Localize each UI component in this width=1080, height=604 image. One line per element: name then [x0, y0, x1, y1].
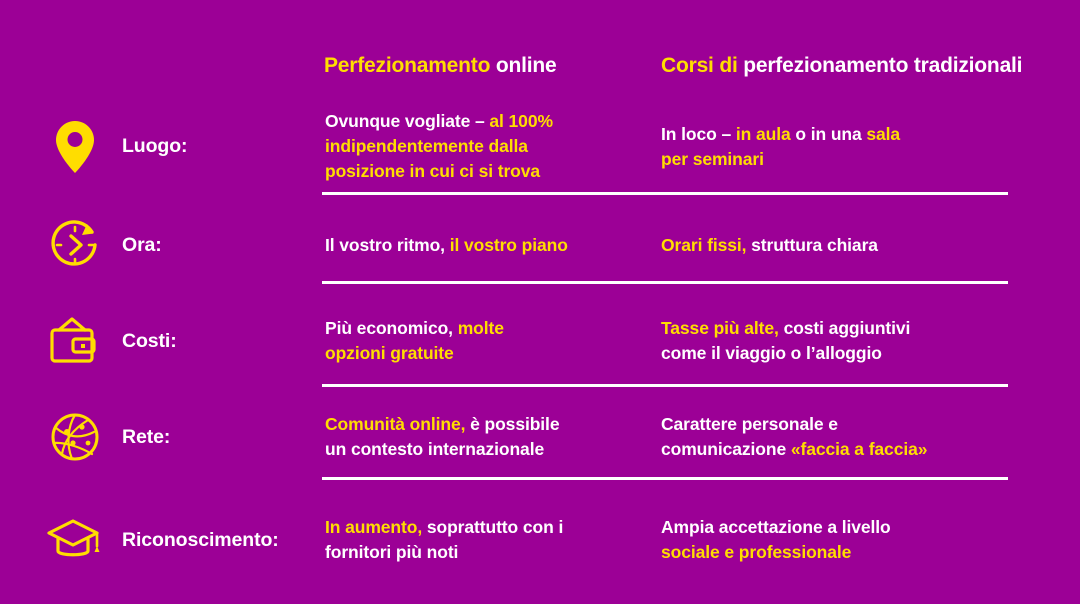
text-highlight: In aumento,	[325, 517, 422, 537]
text-white: un contesto internazionale	[325, 439, 544, 459]
column-header-online: Perfezionamento online	[324, 54, 556, 78]
text-white: come il viaggio o l’alloggio	[661, 343, 882, 363]
comparison-table: Perfezionamento online Corsi di perfezio…	[0, 0, 1080, 604]
row-divider	[322, 192, 1008, 195]
column-header-traditional: Corsi di perfezionamento tradizionali	[661, 54, 1022, 78]
text-white: è possibile	[465, 414, 559, 434]
table-row: Ora: Il vostro ritmo, il vostro piano Or…	[0, 205, 1080, 285]
text-highlight: Orari fissi,	[661, 235, 746, 255]
text-highlight: il vostro piano	[450, 235, 568, 255]
row-label-cell-ora: Ora:	[46, 205, 162, 285]
text-highlight: sociale e professionale	[661, 542, 851, 562]
cell-traditional-luogo: In loco – in aula o in una sala per semi…	[661, 100, 1011, 193]
cell-online-riconoscimento: In aumento, soprattutto con i fornitori …	[325, 495, 655, 585]
row-label-cell-rete: Rete:	[46, 397, 170, 477]
text-white: fornitori più noti	[325, 542, 458, 562]
cell-traditional-riconoscimento: Ampia accettazione a livello sociale e p…	[661, 495, 1011, 585]
text-white: comunicazione	[661, 439, 791, 459]
text-white: o in una	[791, 124, 867, 144]
text-highlight: sala	[866, 124, 900, 144]
text-highlight: Tasse più alte,	[661, 318, 779, 338]
text-highlight: in aula	[736, 124, 791, 144]
row-divider	[322, 477, 1008, 480]
text-highlight: per seminari	[661, 149, 764, 169]
cell-traditional-costi: Tasse più alte, costi aggiuntivi come il…	[661, 295, 1011, 387]
column-header-online-highlight: Perfezionamento	[324, 54, 490, 77]
row-label-rete: Rete:	[122, 426, 170, 449]
row-divider	[322, 281, 1008, 284]
text-white: In loco –	[661, 124, 736, 144]
text-highlight: indipendentemente dalla	[325, 136, 528, 156]
column-header-traditional-rest: perfezionamento tradizionali	[738, 54, 1023, 77]
text-white: struttura chiara	[746, 235, 878, 255]
cell-online-ora: Il vostro ritmo, il vostro piano	[325, 205, 655, 285]
text-white: soprattutto con i	[422, 517, 563, 537]
text-white: Il vostro ritmo,	[325, 235, 450, 255]
text-highlight: posizione in cui ci si trova	[325, 161, 540, 181]
table-row: Luogo: Ovunque vogliate – al 100% indipe…	[0, 100, 1080, 193]
table-row: Costi: Più economico, molte opzioni grat…	[0, 295, 1080, 387]
cell-online-luogo: Ovunque vogliate – al 100% indipendentem…	[325, 100, 655, 193]
text-highlight: molte	[458, 318, 504, 338]
column-header-traditional-highlight: Corsi di	[661, 54, 738, 77]
cell-traditional-ora: Orari fissi, struttura chiara	[661, 205, 1011, 285]
row-label-cell-costi: Costi:	[46, 295, 177, 387]
row-label-riconoscimento: Riconoscimento:	[122, 529, 279, 552]
text-highlight: al 100%	[489, 111, 553, 131]
table-row: Rete: Comunità online, è possibile un co…	[0, 397, 1080, 477]
cell-online-costi: Più economico, molte opzioni gratuite	[325, 295, 655, 387]
row-label-luogo: Luogo:	[122, 135, 187, 158]
location-pin-icon	[46, 118, 104, 176]
row-label-cell-luogo: Luogo:	[46, 100, 187, 193]
text-highlight: opzioni gratuite	[325, 343, 454, 363]
row-label-costi: Costi:	[122, 330, 177, 353]
globe-network-icon	[46, 408, 104, 466]
wallet-icon	[46, 312, 104, 370]
text-highlight: «faccia a faccia»	[791, 439, 927, 459]
text-white: Più economico,	[325, 318, 458, 338]
cell-traditional-rete: Carattere personale e comunicazione «fac…	[661, 397, 1011, 477]
row-label-ora: Ora:	[122, 234, 162, 257]
text-white: Ampia accettazione a livello	[661, 517, 891, 537]
text-white: Carattere personale e	[661, 414, 838, 434]
text-white: Ovunque vogliate –	[325, 111, 489, 131]
row-divider	[322, 384, 1008, 387]
text-white: costi aggiuntivi	[779, 318, 911, 338]
column-header-online-rest: online	[490, 54, 556, 77]
cell-online-rete: Comunità online, è possibile un contesto…	[325, 397, 655, 477]
clock-arrow-icon	[46, 216, 104, 274]
text-highlight: Comunità online,	[325, 414, 465, 434]
table-row: Riconoscimento: In aumento, soprattutto …	[0, 495, 1080, 585]
table-header-row: Perfezionamento online Corsi di perfezio…	[0, 54, 1080, 88]
graduation-cap-icon	[46, 511, 104, 569]
row-label-cell-riconoscimento: Riconoscimento:	[46, 495, 279, 585]
